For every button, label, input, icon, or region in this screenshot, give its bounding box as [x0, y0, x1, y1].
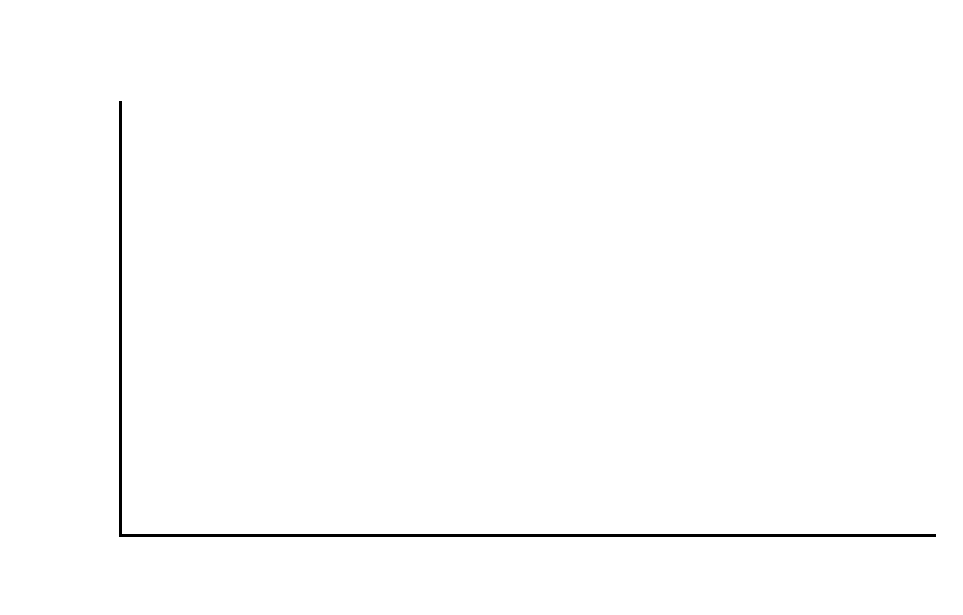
spectrogram-figure — [0, 0, 963, 615]
plot-area — [121, 101, 935, 534]
y-axis-line — [119, 101, 122, 537]
legend — [578, 13, 938, 88]
x-axis-line — [119, 534, 936, 537]
spectrogram-canvas — [121, 101, 935, 534]
